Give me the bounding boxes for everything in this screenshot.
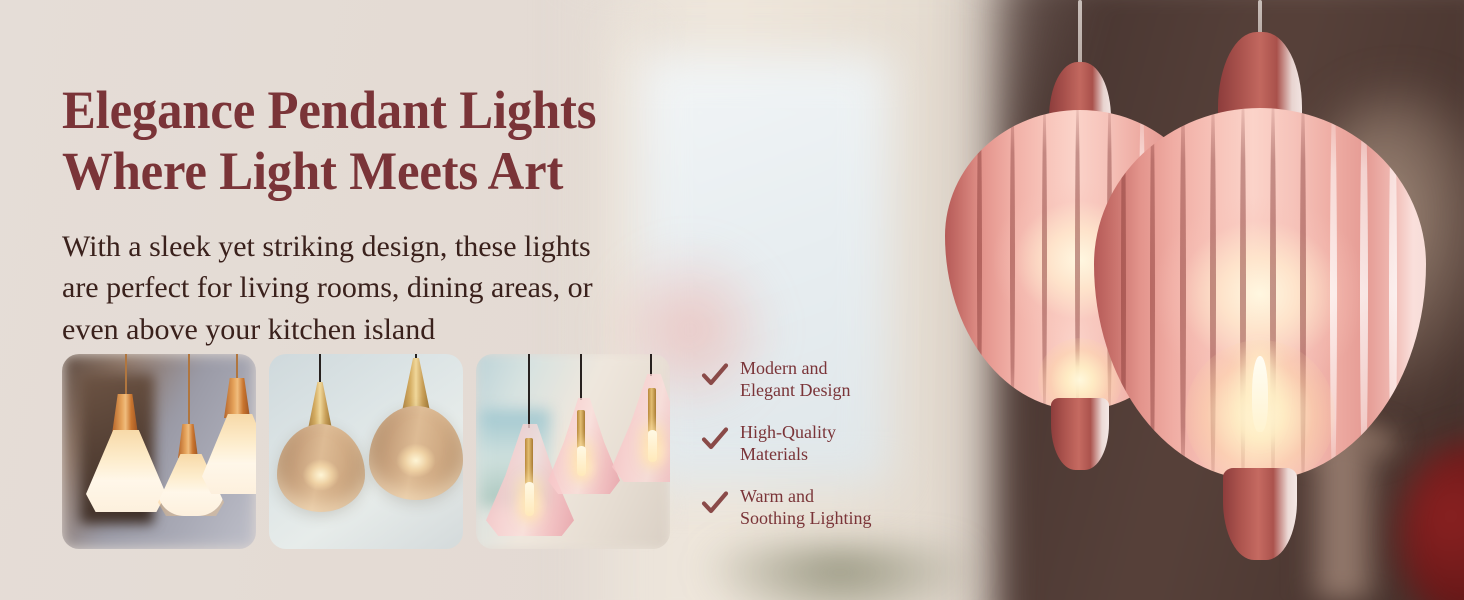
feature-label: Modern and Elegant Design (740, 358, 850, 402)
pendant-filament-bulb (1252, 356, 1268, 432)
thumbnail-amber-cone-pendants[interactable] (62, 354, 256, 549)
pendant-cord (1078, 0, 1082, 68)
pendant-cord (1258, 0, 1262, 36)
thumbnail-gallery (62, 354, 670, 549)
check-icon (700, 360, 730, 390)
pendant-wire (188, 354, 190, 426)
feature-label: High-Quality Materials (740, 422, 836, 466)
pendant-shade (1094, 108, 1426, 480)
pendant-cord (650, 354, 652, 376)
pendant-rib (1121, 108, 1126, 480)
pendant-filament-bulb (525, 482, 534, 516)
pendant-cord (319, 354, 321, 384)
headline: Elegance Pendant Lights Where Light Meet… (62, 80, 776, 201)
feature-item: Modern and Elegant Design (700, 358, 872, 402)
subheadline-line-1: With a sleek yet striking design, these … (62, 226, 782, 267)
subheadline-line-2: are perfect for living rooms, dining are… (62, 267, 782, 308)
headline-line-1: Elegance Pendant Lights (62, 80, 596, 140)
pendant-cord (580, 354, 582, 400)
pendant-wire (236, 354, 238, 380)
feature-label-line-2: Elegant Design (740, 380, 850, 402)
feature-label-line-1: Warm and (740, 486, 872, 508)
subheadline-line-3: even above your kitchen island (62, 309, 782, 350)
thumbnail-pink-glass-pendants[interactable] (476, 354, 670, 549)
promo-banner: Elegance Pendant Lights Where Light Meet… (0, 0, 1464, 600)
check-icon (700, 488, 730, 518)
pendant-filament-bulb (648, 430, 657, 462)
pendant-wire (125, 354, 127, 396)
pendant-rib-highlight (1360, 108, 1368, 480)
pendant-brass-stem (577, 410, 585, 448)
headline-line-2: Where Light Meets Art (62, 141, 776, 201)
pendant-cord (528, 354, 530, 428)
feature-item: Warm and Soothing Lighting (700, 486, 872, 530)
subheadline: With a sleek yet striking design, these … (62, 226, 782, 350)
pendant-filament-bulb (577, 446, 586, 476)
feature-label-line-1: High-Quality (740, 422, 836, 444)
pendant-rib (1010, 110, 1015, 410)
feature-label-line-2: Soothing Lighting (740, 508, 872, 530)
pendant-base (1223, 468, 1297, 560)
feature-label: Warm and Soothing Lighting (740, 486, 872, 530)
feature-list: Modern and Elegant Design High-Quality M… (700, 358, 872, 530)
feature-label-line-2: Materials (740, 444, 836, 466)
hero-pendant-front (1085, 0, 1435, 570)
feature-label-line-1: Modern and (740, 358, 850, 380)
background-foliage (700, 545, 980, 600)
pendant-brass-stem (525, 438, 533, 484)
feature-item: High-Quality Materials (700, 422, 872, 466)
pendant-brass-stem (648, 388, 656, 432)
thumbnail-gold-teardrop-pendants[interactable] (269, 354, 463, 549)
check-icon (700, 424, 730, 454)
